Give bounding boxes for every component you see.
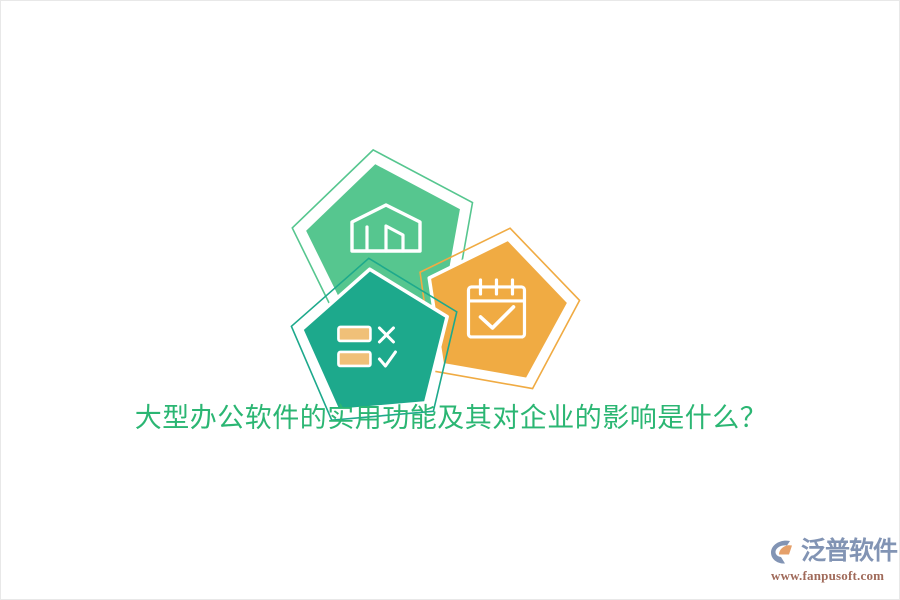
- pentagon-body: [297, 263, 454, 413]
- logo-row: 泛普软件: [769, 535, 895, 567]
- page-canvas: 大型办公软件的实用功能及其对企业的影响是什么？ 泛普软件 www.fanpuso…: [0, 0, 900, 600]
- brand-logo[interactable]: 泛普软件 www.fanpusoft.com: [769, 535, 895, 587]
- logo-brand-name: 泛普软件: [801, 536, 897, 566]
- three-pentagon-feature-cluster: [286, 141, 561, 391]
- pentagon-checklist: [286, 251, 561, 501]
- logo-website-url: www.fanpusoft.com: [771, 568, 895, 584]
- fanpu-c-logo-icon: [769, 536, 799, 566]
- page-title: 大型办公软件的实用功能及其对企业的影响是什么？: [1, 401, 900, 435]
